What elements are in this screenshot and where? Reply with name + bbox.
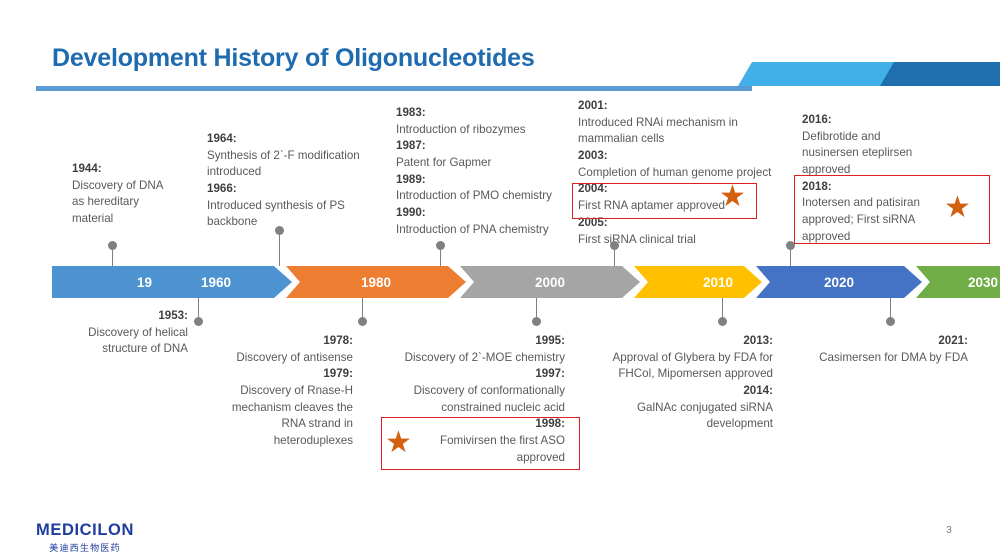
entry-line: Introduced synthesis of PS <box>207 198 407 215</box>
timeline-segment-2000[interactable]: 2000 <box>460 266 640 298</box>
entry-line: GalNAc conjugated siRNA <box>580 400 773 417</box>
slide-canvas: Development History of Oligonucleotides … <box>0 0 1000 557</box>
pin-dot <box>358 317 367 326</box>
entry-year: 2003: <box>578 149 608 162</box>
entry-line: development <box>580 416 773 433</box>
entry-line: Discovery of DNA <box>72 178 222 195</box>
entry-line: Discovery of Rnase-H <box>208 383 353 400</box>
entry-line: mammalian cells <box>578 131 793 148</box>
entry-line: as hereditary <box>72 194 222 211</box>
entry-line: Introduction of ribozymes <box>396 122 596 139</box>
entry-year: 1983: <box>396 106 426 119</box>
timeline-pin-2016 <box>786 241 795 266</box>
pin-stem <box>279 230 281 266</box>
timeline-pin-1995 <box>532 298 541 326</box>
entry-line: material <box>72 211 222 228</box>
pin-dot <box>886 317 895 326</box>
segment-label: 2000 <box>535 275 565 290</box>
entry-line: introduced <box>207 164 407 181</box>
header-accent-dark <box>880 62 1000 86</box>
pin-stem <box>790 245 792 266</box>
timeline-pin-1944 <box>108 241 117 266</box>
pin-dot <box>718 317 727 326</box>
entry-block-1964: 1964: Synthesis of 2`-F modification int… <box>207 131 407 231</box>
entry-line: Discovery of 2`-MOE chemistry <box>378 350 565 367</box>
entry-line: mechanism cleaves the <box>208 400 353 417</box>
entry-year: 2021: <box>938 334 968 347</box>
pin-dot <box>532 317 541 326</box>
entry-line: Introduced RNAi mechanism in <box>578 115 793 132</box>
logo-text-cn: 美迪西生物医药 <box>36 541 134 554</box>
entry-block-1978: 1978: Discovery of antisense 1979: Disco… <box>208 333 353 450</box>
timeline-pin-1983 <box>436 241 445 266</box>
entry-line: Patent for Gapmer <box>396 155 596 172</box>
star-icon: ★ <box>944 193 971 223</box>
entry-block-1953: 1953: Discovery of helical structure of … <box>40 308 188 358</box>
entry-line: Introduction of PMO chemistry <box>396 188 596 205</box>
entry-year: 1978: <box>323 334 353 347</box>
entry-block-2021: 2021: Casimersen for DMA by FDA <box>790 333 968 366</box>
timeline-segment-2030[interactable]: 2030 <box>916 266 1000 298</box>
entry-line: FHCol, Mipomersen approved <box>580 366 773 383</box>
title-underline <box>36 86 752 91</box>
pin-stem <box>440 245 442 266</box>
entry-block-1944: 1944: Discovery of DNA as hereditary mat… <box>72 161 222 228</box>
entry-line: Casimersen for DMA by FDA <box>790 350 968 367</box>
entry-year: 1989: <box>396 173 426 186</box>
entry-line: Introduction of PNA chemistry <box>396 222 596 239</box>
star-icon: ★ <box>385 428 412 458</box>
page-number: 3 <box>946 524 952 536</box>
entry-line: Discovery of helical <box>40 325 188 342</box>
medicilon-logo: MEDICILON 美迪西生物医药 <box>36 521 134 554</box>
entry-year: 1966: <box>207 182 237 195</box>
entry-year: 1953: <box>158 309 188 322</box>
timeline-pin-1953 <box>194 298 203 326</box>
entry-year: 1944: <box>72 162 102 175</box>
segment-label: 2020 <box>824 275 854 290</box>
entry-year: 2013: <box>743 334 773 347</box>
logo-text-en: MEDICILON <box>36 521 134 540</box>
entry-line: RNA strand in <box>208 416 353 433</box>
entry-line: nusinersen eteplirsen <box>802 145 972 162</box>
timeline-pin-2021 <box>886 298 895 326</box>
entry-year: 1995: <box>535 334 565 347</box>
entry-line: backbone <box>207 214 407 231</box>
timeline-pin-1978 <box>358 298 367 326</box>
entry-year: 1990: <box>396 206 426 219</box>
entry-year: 2001: <box>578 99 608 112</box>
pin-stem <box>614 245 616 266</box>
segment-label: 1980 <box>361 275 391 290</box>
timeline-segment-2010[interactable]: 2010 <box>634 266 762 298</box>
entry-line: Completion of human genome project <box>578 165 793 182</box>
page-title: Development History of Oligonucleotides <box>52 44 535 73</box>
entry-block-2013: 2013: Approval of Glybera by FDA for FHC… <box>580 333 773 433</box>
timeline-segment-1980[interactable]: 1980 <box>286 266 466 298</box>
entry-line: heteroduplexes <box>208 433 353 450</box>
timeline-segment-2020[interactable]: 2020 <box>756 266 922 298</box>
pin-dot <box>194 317 203 326</box>
entry-block-2001: 2001: Introduced RNAi mechanism in mamma… <box>578 98 793 248</box>
entry-year: 2016: <box>802 113 832 126</box>
header-accent-light <box>738 62 904 86</box>
star-icon: ★ <box>719 182 746 212</box>
timeline-pin-2001 <box>610 241 619 266</box>
segment-label: 1960 <box>201 275 231 290</box>
entry-line: Synthesis of 2`-F modification <box>207 148 407 165</box>
entry-year: 1997: <box>535 367 565 380</box>
timeline-segment-1960[interactable]: 1960 <box>152 266 292 298</box>
entry-line: Defibrotide and <box>802 129 972 146</box>
timeline-bar: 1940 1960 1980 2000 2010 2020 2030 <box>52 266 948 298</box>
entry-line: structure of DNA <box>40 341 188 358</box>
entry-line: Discovery of conformationally <box>378 383 565 400</box>
timeline-pin-2013 <box>718 298 727 326</box>
entry-line: Approval of Glybera by FDA for <box>580 350 773 367</box>
entry-year: 2014: <box>743 384 773 397</box>
entry-line: Discovery of antisense <box>208 350 353 367</box>
pin-stem <box>112 245 114 266</box>
segment-label: 2010 <box>703 275 733 290</box>
entry-year: 1979: <box>323 367 353 380</box>
entry-year: 1987: <box>396 139 426 152</box>
timeline-pin-1964 <box>275 226 284 266</box>
entry-year: 1964: <box>207 132 237 145</box>
entry-line: constrained nucleic acid <box>378 400 565 417</box>
segment-label: 2030 <box>968 275 998 290</box>
entry-block-1983: 1983: Introduction of ribozymes 1987: Pa… <box>396 105 596 239</box>
